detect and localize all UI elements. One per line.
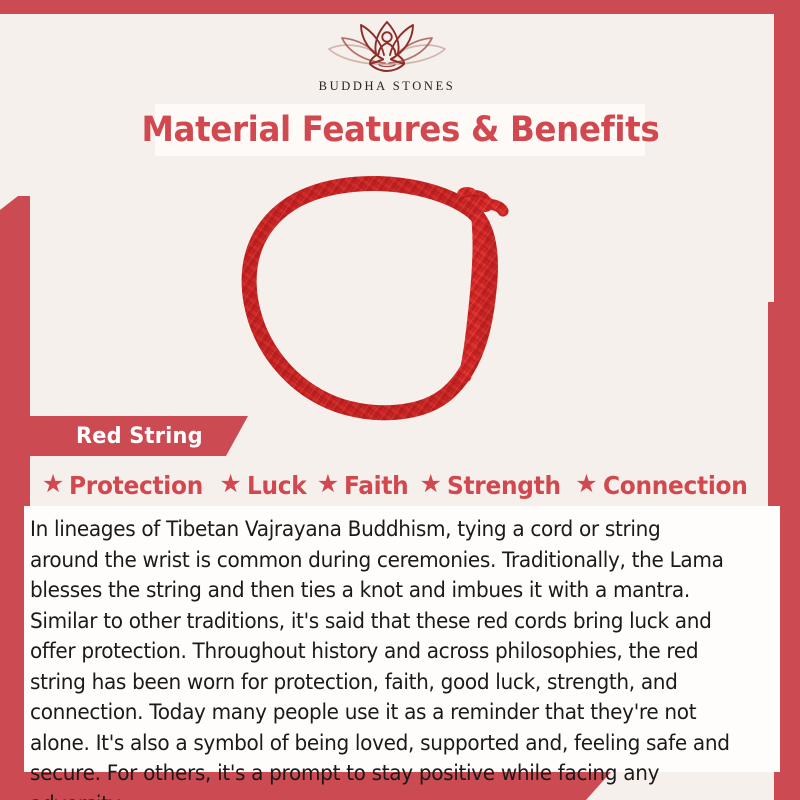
description-panel: In lineages of Tibetan Vajrayana Buddhis… — [24, 506, 780, 772]
red-string-bracelet-image — [227, 160, 547, 422]
star-icon: ★ — [575, 472, 597, 497]
benefit-item-faith: ★ Faith — [317, 473, 414, 498]
benefits-list: ★ Protection ★ Luck ★ Faith ★ Strength ★… — [30, 466, 770, 504]
product-name-ribbon: Red String — [0, 416, 248, 456]
page-title: Material Features & Benefits — [141, 113, 659, 148]
lotus-meditation-figure-icon — [312, 16, 462, 78]
benefit-item-strength: ★ Strength — [420, 473, 570, 498]
benefit-item-connection: ★ Connection — [575, 473, 758, 498]
benefit-item-luck: ★ Luck — [219, 473, 310, 498]
infographic-canvas: BUDDHA STONES Material Features & Benefi… — [0, 0, 800, 800]
decorative-top-bar — [0, 0, 800, 14]
benefit-item-protection: ★ Protection — [42, 473, 213, 498]
star-icon: ★ — [42, 472, 64, 497]
star-icon: ★ — [317, 472, 339, 497]
benefit-label: Connection — [603, 473, 748, 498]
benefit-label: Faith — [344, 473, 408, 498]
benefit-label: Protection — [69, 473, 203, 498]
brand-wordmark: BUDDHA STONES — [319, 79, 456, 94]
star-icon: ★ — [420, 472, 442, 497]
brand-logo: BUDDHA STONES — [0, 16, 774, 104]
product-image-area — [30, 160, 744, 422]
star-icon: ★ — [219, 472, 241, 497]
benefit-label: Strength — [447, 473, 561, 498]
description-paragraph: In lineages of Tibetan Vajrayana Buddhis… — [30, 514, 733, 800]
product-name-label: Red String — [76, 424, 203, 449]
benefit-label: Luck — [247, 473, 307, 498]
title-banner: Material Features & Benefits — [155, 104, 645, 156]
